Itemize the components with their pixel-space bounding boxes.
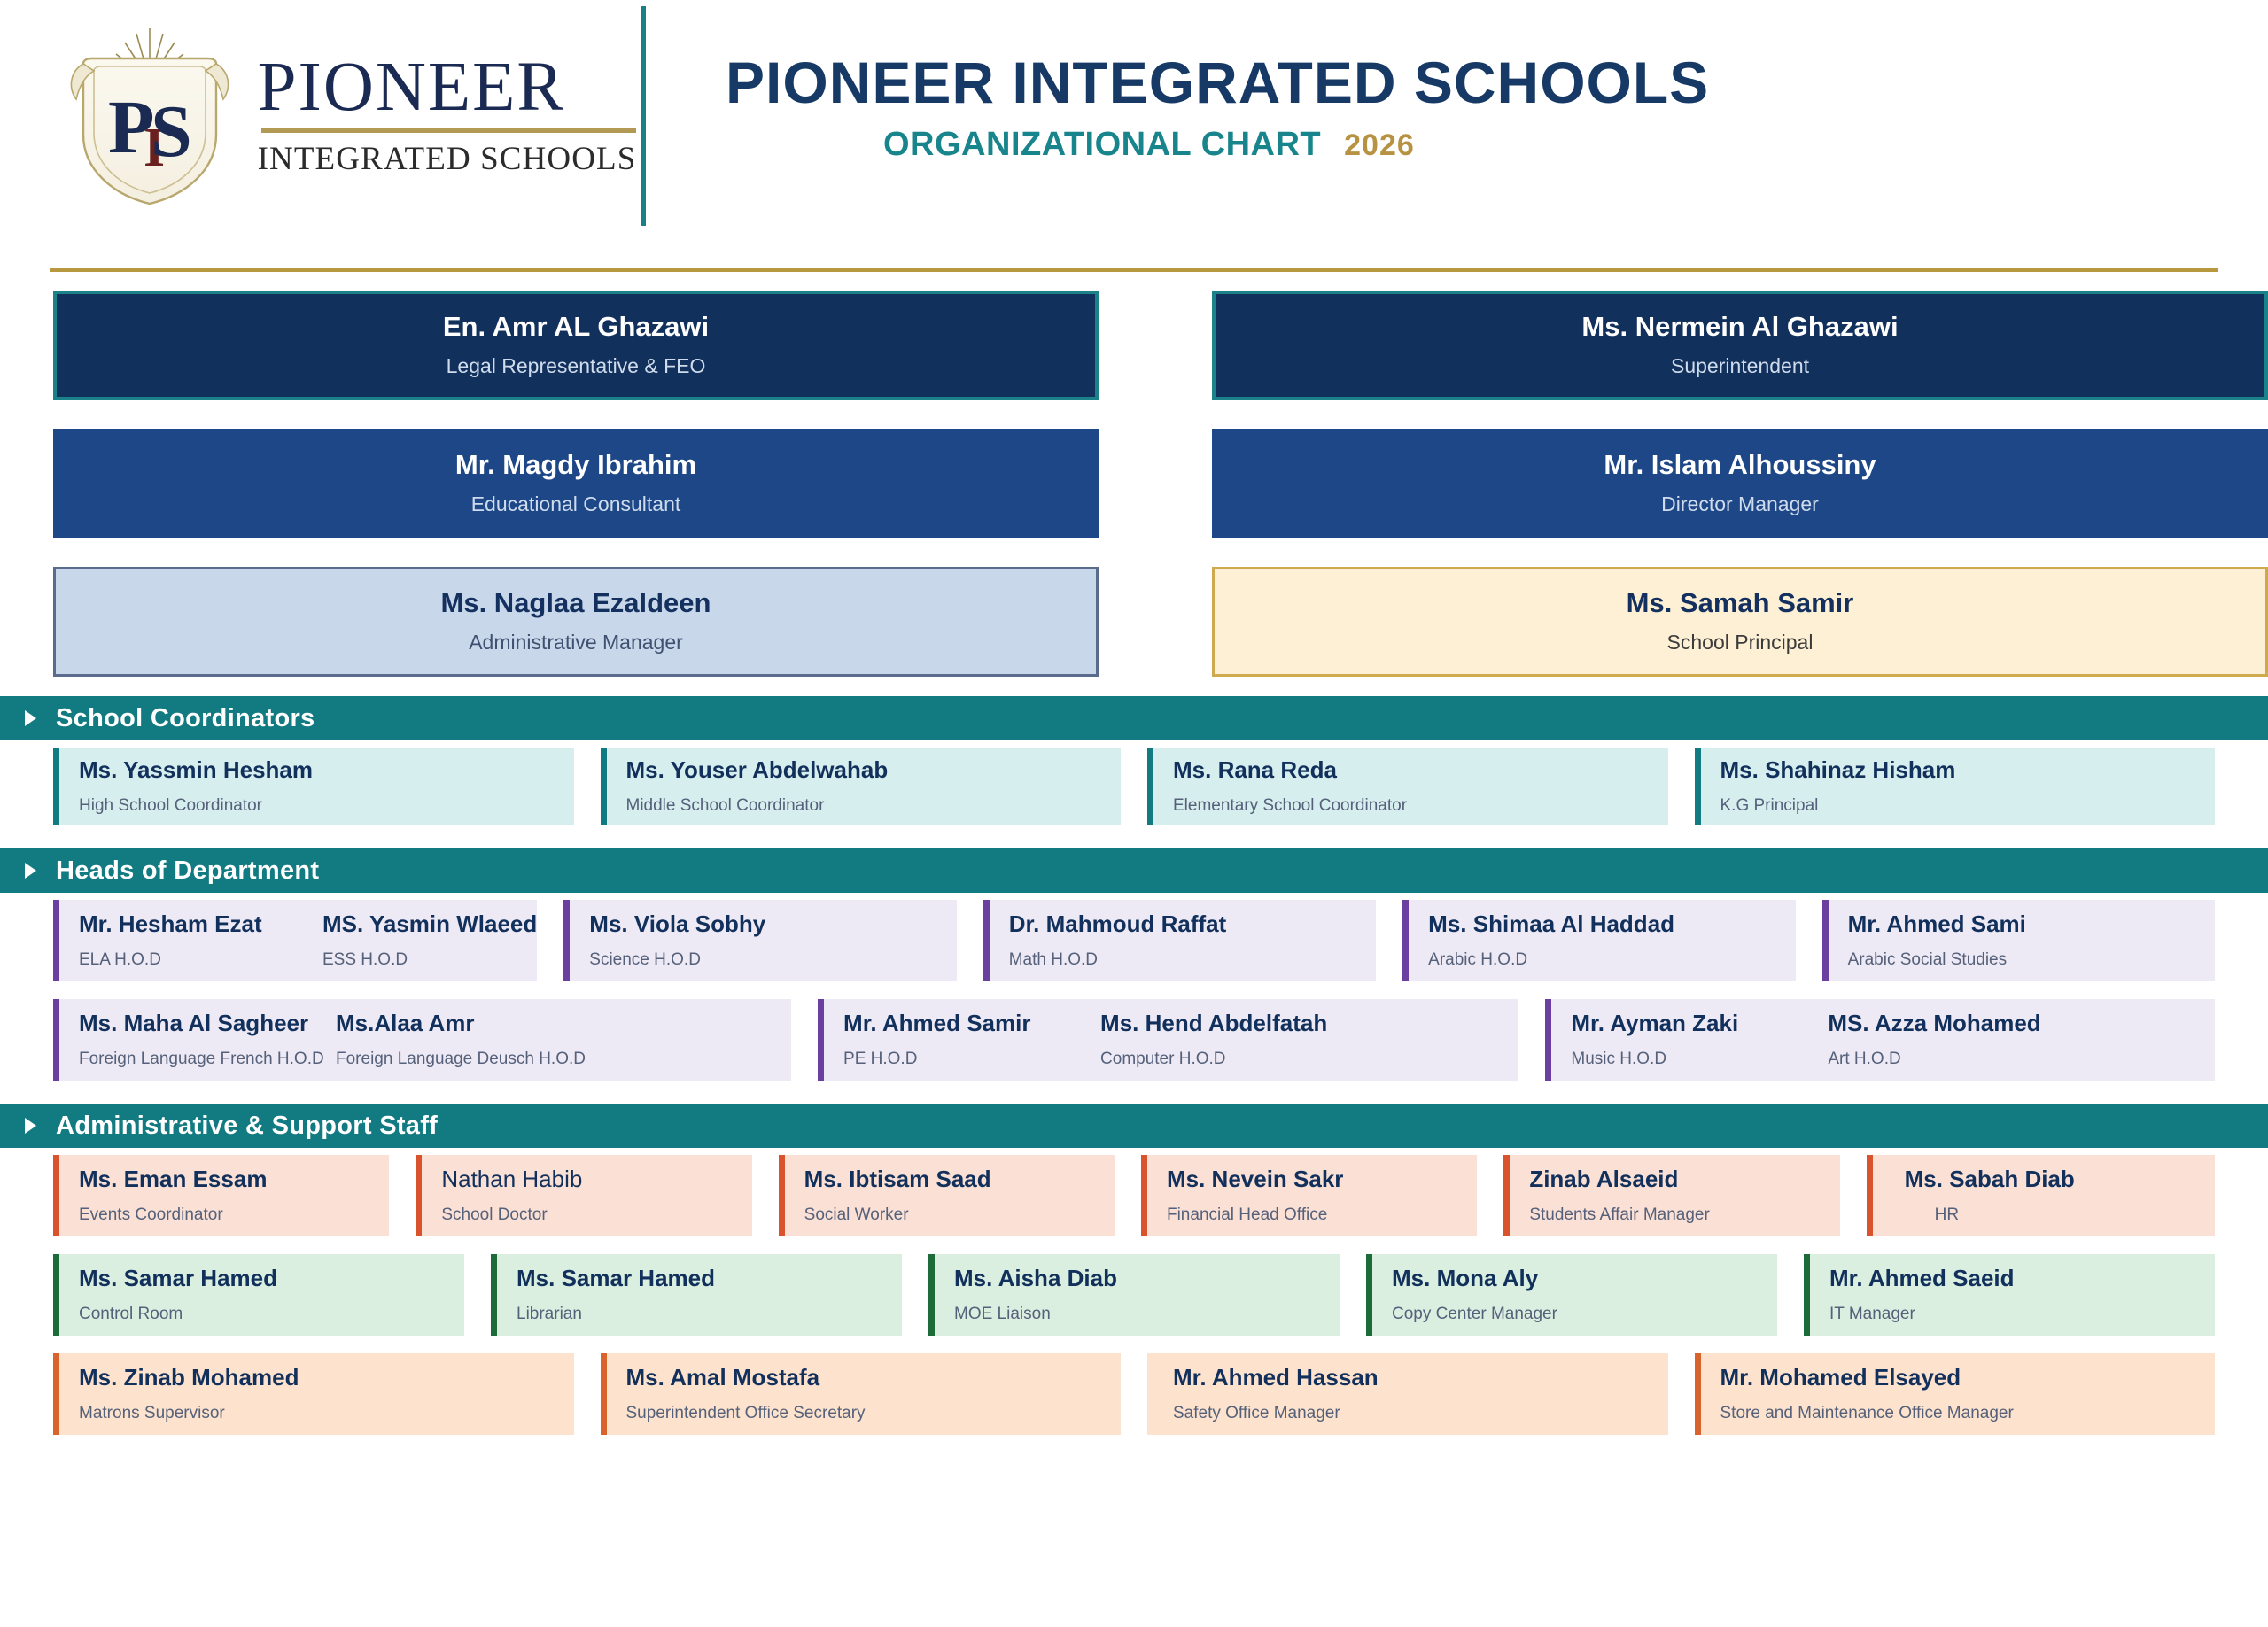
staff-role: Financial Head Office xyxy=(1167,1203,1477,1228)
hod-row-2: Ms. Maha Al Sagheer Foreign Language Fre… xyxy=(0,999,2268,1081)
staff-card-arabic-social-studies[interactable]: Mr. Ahmed Sami Arabic Social Studies xyxy=(1822,900,2215,981)
exec-card-director-manager[interactable]: Mr. Islam Alhoussiny Director Manager xyxy=(1212,429,2268,538)
staff-card-math-hod[interactable]: Dr. Mahmoud Raffat Math H.O.D xyxy=(983,900,1376,981)
staff-role: IT Manager xyxy=(1829,1302,2215,1327)
staff-name: Mr. Ayman Zaki xyxy=(1571,1009,1828,1039)
staff-name: Ms. Amal Mostafa xyxy=(626,1363,1122,1393)
exec-role: Director Manager xyxy=(1661,489,1819,520)
section-header-heads-of-department[interactable]: Heads of Department xyxy=(0,848,2268,893)
chart-year: 2026 xyxy=(1344,128,1415,163)
staff-name: Ms. Ibtisam Saad xyxy=(804,1165,1115,1195)
staff-card-hr[interactable]: Ms. Sabah Diab HR xyxy=(1867,1155,2215,1236)
staff-card-social-worker[interactable]: Ms. Ibtisam Saad Social Worker xyxy=(779,1155,1115,1236)
header-gold-rule xyxy=(50,268,2218,272)
staff-name: Mr. Ahmed Samir xyxy=(843,1009,1100,1039)
staff-card-kg-principal[interactable]: Ms. Shahinaz Hisham K.G Principal xyxy=(1695,748,2216,825)
logo-wordmark: PIONEER xyxy=(258,54,637,120)
staff-role: Superintendent Office Secretary xyxy=(626,1401,1122,1426)
staff-role: Control Room xyxy=(79,1302,464,1327)
staff-name: Ms. Mona Aly xyxy=(1392,1264,1777,1294)
staff-name: Ms. Shimaa Al Haddad xyxy=(1428,910,1795,940)
staff-card-school-doctor[interactable]: Nathan Habib School Doctor xyxy=(416,1155,751,1236)
exec-role: School Principal xyxy=(1667,627,1814,658)
staff-role: Copy Center Manager xyxy=(1392,1302,1777,1327)
staff-name: Ms. Samar Hamed xyxy=(517,1264,902,1294)
staff-role: Math H.O.D xyxy=(1009,948,1376,972)
staff-card-arabic-hod[interactable]: Ms. Shimaa Al Haddad Arabic H.O.D xyxy=(1402,900,1795,981)
staff-role: ELA H.O.D xyxy=(79,948,322,972)
staff-role: MOE Liaison xyxy=(954,1302,1340,1327)
staff-name: Ms. Yassmin Hesham xyxy=(79,755,574,786)
staff-role: Safety Office Manager xyxy=(1173,1401,1668,1426)
staff-role: School Doctor xyxy=(441,1203,751,1228)
staff-card-high-school-coordinator[interactable]: Ms. Yassmin Hesham High School Coordinat… xyxy=(53,748,574,825)
crest-shield-icon: P I S xyxy=(55,21,245,212)
executive-row-3: Ms. Naglaa Ezaldeen Administrative Manag… xyxy=(0,567,2268,673)
staff-role-secondary: Art H.O.D xyxy=(1828,1047,2040,1072)
staff-name: Mr. Mohamed Elsayed xyxy=(1720,1363,2216,1393)
exec-card-administrative-manager[interactable]: Ms. Naglaa Ezaldeen Administrative Manag… xyxy=(53,567,1099,677)
staff-role: Social Worker xyxy=(804,1203,1115,1228)
staff-role: Middle School Coordinator xyxy=(626,794,1122,818)
staff-card-ela-ess-hod[interactable]: Mr. Hesham Ezat ELA H.O.D MS. Yasmin Wla… xyxy=(53,900,537,981)
exec-name: Mr. Magdy Ibrahim xyxy=(455,448,696,483)
staff-name-secondary: Ms.Alaa Amr xyxy=(336,1009,586,1039)
exec-role: Administrative Manager xyxy=(469,627,683,658)
exec-card-educational-consultant[interactable]: Mr. Magdy Ibrahim Educational Consultant xyxy=(53,429,1099,538)
staff-role: Students Affair Manager xyxy=(1529,1203,1839,1228)
staff-name: Ms. Rana Reda xyxy=(1173,755,1668,786)
staff-role-secondary: Foreign Language Deusch H.O.D xyxy=(336,1047,586,1072)
staff-role: Arabic H.O.D xyxy=(1428,948,1795,972)
exec-role: Educational Consultant xyxy=(471,489,681,520)
staff-card-matrons-supervisor[interactable]: Ms. Zinab Mohamed Matrons Supervisor xyxy=(53,1353,574,1435)
exec-name: Ms. Samah Samir xyxy=(1627,586,1854,621)
staff-name: Ms. Samar Hamed xyxy=(79,1264,464,1294)
staff-card-middle-school-coordinator[interactable]: Ms. Youser Abdelwahab Middle School Coor… xyxy=(601,748,1122,825)
svg-text:S: S xyxy=(151,90,192,173)
page-subtitle: ORGANIZATIONAL CHART xyxy=(883,126,1321,164)
staff-card-moe-liaison[interactable]: Ms. Aisha Diab MOE Liaison xyxy=(928,1254,1340,1336)
exec-name: Ms. Nermein Al Ghazawi xyxy=(1581,310,1898,345)
header-titles: PIONEER INTEGRATED SCHOOLS ORGANIZATIONA… xyxy=(646,52,2268,164)
staff-card-science-hod[interactable]: Ms. Viola Sobhy Science H.O.D xyxy=(563,900,956,981)
staff-name-secondary: MS. Yasmin Wlaeed xyxy=(322,910,537,940)
staff-role: Arabic Social Studies xyxy=(1848,948,2215,972)
triangle-right-icon xyxy=(25,710,36,726)
staff-name: Ms. Shahinaz Hisham xyxy=(1720,755,2216,786)
staff-name: Mr. Ahmed Saeid xyxy=(1829,1264,2215,1294)
staff-card-pe-computer-hod[interactable]: Mr. Ahmed Samir PE H.O.D Ms. Hend Abdelf… xyxy=(818,999,1518,1081)
staff-name: Ms. Nevein Sakr xyxy=(1167,1165,1477,1195)
staff-card-financial-head-office[interactable]: Ms. Nevein Sakr Financial Head Office xyxy=(1141,1155,1477,1236)
staff-card-copy-center-manager[interactable]: Ms. Mona Aly Copy Center Manager xyxy=(1366,1254,1777,1336)
exec-card-superintendent[interactable]: Ms. Nermein Al Ghazawi Superintendent xyxy=(1212,291,2268,400)
staff-name: Ms. Maha Al Sagheer xyxy=(79,1009,336,1039)
section-title: Heads of Department xyxy=(56,856,319,886)
staff-card-control-room[interactable]: Ms. Samar Hamed Control Room xyxy=(53,1254,464,1336)
staff-role: Science H.O.D xyxy=(589,948,956,972)
org-chart-page: P I S PIONEER Integrated Schools PIONEER… xyxy=(0,0,2268,1627)
staff-name: Mr. Hesham Ezat xyxy=(79,910,322,940)
staff-name: Ms. Aisha Diab xyxy=(954,1264,1340,1294)
staff-role: Events Coordinator xyxy=(79,1203,389,1228)
page-title: PIONEER INTEGRATED SCHOOLS xyxy=(726,52,2268,113)
staff-name: Dr. Mahmoud Raffat xyxy=(1009,910,1376,940)
staff-role: Music H.O.D xyxy=(1571,1047,1828,1072)
exec-card-school-principal[interactable]: Ms. Samah Samir School Principal xyxy=(1212,567,2268,677)
staff-name: Mr. Ahmed Sami xyxy=(1848,910,2215,940)
section-header-school-coordinators[interactable]: School Coordinators xyxy=(0,696,2268,740)
staff-card-it-manager[interactable]: Mr. Ahmed Saeid IT Manager xyxy=(1804,1254,2215,1336)
section-title: Administrative & Support Staff xyxy=(56,1112,438,1141)
staff-name: Ms. Eman Essam xyxy=(79,1165,389,1195)
logo-tagline: Integrated Schools xyxy=(258,140,637,178)
staff-name: Zinab Alsaeid xyxy=(1529,1165,1839,1195)
staff-role: PE H.O.D xyxy=(843,1047,1100,1072)
coordinators-row: Ms. Yassmin Hesham High School Coordinat… xyxy=(0,748,2268,825)
staff-name-secondary: MS. Azza Mohamed xyxy=(1828,1009,2040,1039)
staff-card-safety-office-manager[interactable]: Mr. Ahmed Hassan Safety Office Manager xyxy=(1147,1353,1668,1435)
staff-role-secondary: ESS H.O.D xyxy=(322,948,537,972)
staff-name: Ms. Zinab Mohamed xyxy=(79,1363,574,1393)
staff-name: Ms. Viola Sobhy xyxy=(589,910,956,940)
school-logo: P I S PIONEER Integrated Schools xyxy=(0,10,638,222)
logo-divider xyxy=(261,128,637,133)
staff-role: Elementary School Coordinator xyxy=(1173,794,1668,818)
staff-role: Librarian xyxy=(517,1302,902,1327)
staff-card-events-coordinator[interactable]: Ms. Eman Essam Events Coordinator xyxy=(53,1155,389,1236)
page-header: P I S PIONEER Integrated Schools PIONEER… xyxy=(0,0,2268,232)
staff-role: Foreign Language French H.O.D xyxy=(79,1047,336,1072)
exec-name: Ms. Naglaa Ezaldeen xyxy=(441,586,711,621)
staff-card-students-affair-manager[interactable]: Zinab Alsaeid Students Affair Manager xyxy=(1503,1155,1839,1236)
exec-role: Legal Representative & FEO xyxy=(447,351,706,382)
staff-role: High School Coordinator xyxy=(79,794,574,818)
exec-card-legal-representative[interactable]: En. Amr AL Ghazawi Legal Representative … xyxy=(53,291,1099,400)
admin-row-1: Ms. Eman Essam Events Coordinator Nathan… xyxy=(0,1155,2268,1236)
staff-role: K.G Principal xyxy=(1720,794,2216,818)
staff-role: Store and Maintenance Office Manager xyxy=(1720,1401,2216,1426)
admin-row-2: Ms. Samar Hamed Control Room Ms. Samar H… xyxy=(0,1254,2268,1336)
staff-name: Ms. Sabah Diab xyxy=(1905,1165,2215,1195)
section-title: School Coordinators xyxy=(56,704,315,733)
staff-role-secondary: Computer H.O.D xyxy=(1100,1047,1327,1072)
staff-card-store-maintenance-office-manager[interactable]: Mr. Mohamed Elsayed Store and Maintenanc… xyxy=(1695,1353,2216,1435)
staff-name: Mr. Ahmed Hassan xyxy=(1173,1363,1668,1393)
staff-role: HR xyxy=(1905,1203,2215,1228)
staff-card-foreign-language-hod[interactable]: Ms. Maha Al Sagheer Foreign Language Fre… xyxy=(53,999,791,1081)
staff-card-elementary-school-coordinator[interactable]: Ms. Rana Reda Elementary School Coordina… xyxy=(1147,748,1668,825)
admin-row-3: Ms. Zinab Mohamed Matrons Supervisor Ms.… xyxy=(0,1353,2268,1435)
hod-row-1: Mr. Hesham Ezat ELA H.O.D MS. Yasmin Wla… xyxy=(0,900,2268,981)
staff-card-superintendent-office-secretary[interactable]: Ms. Amal Mostafa Superintendent Office S… xyxy=(601,1353,1122,1435)
exec-name: En. Amr AL Ghazawi xyxy=(443,310,709,345)
staff-name: Ms. Youser Abdelwahab xyxy=(626,755,1122,786)
staff-name-secondary: Ms. Hend Abdelfatah xyxy=(1100,1009,1327,1039)
staff-card-music-art-hod[interactable]: Mr. Ayman Zaki Music H.O.D MS. Azza Moha… xyxy=(1545,999,2215,1081)
executive-section: En. Amr AL Ghazawi Legal Representative … xyxy=(0,291,2268,1435)
executive-row-1: En. Amr AL Ghazawi Legal Representative … xyxy=(0,291,2268,397)
staff-name: Nathan Habib xyxy=(441,1165,751,1195)
exec-role: Superintendent xyxy=(1671,351,1809,382)
executive-row-2: Mr. Magdy Ibrahim Educational Consultant… xyxy=(0,429,2268,535)
staff-card-librarian[interactable]: Ms. Samar Hamed Librarian xyxy=(491,1254,902,1336)
section-header-administrative-support-staff[interactable]: Administrative & Support Staff xyxy=(0,1104,2268,1148)
staff-role: Matrons Supervisor xyxy=(79,1401,574,1426)
triangle-right-icon xyxy=(25,1118,36,1134)
exec-name: Mr. Islam Alhoussiny xyxy=(1604,448,1876,483)
triangle-right-icon xyxy=(25,863,36,879)
